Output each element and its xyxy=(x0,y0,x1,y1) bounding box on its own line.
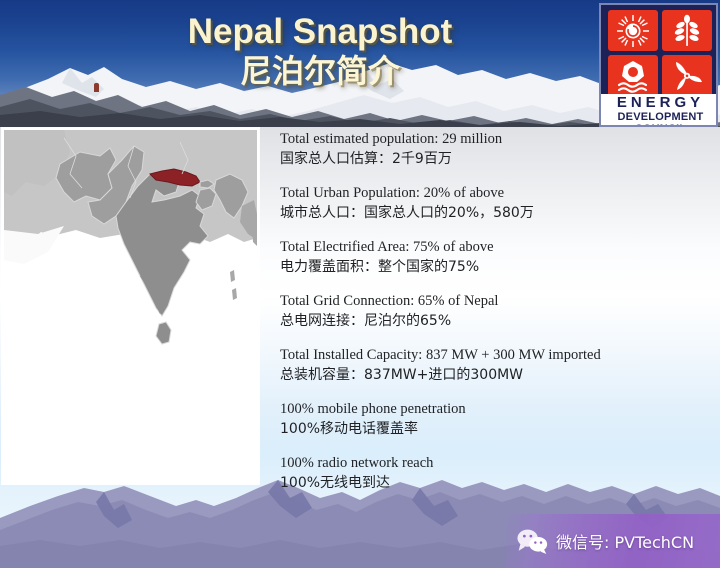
wechat-icon xyxy=(516,528,549,554)
fact-item-population: Total estimated population: 29 million 国… xyxy=(280,130,700,169)
logo-cell-wind xyxy=(662,55,712,96)
logo-icon-grid xyxy=(608,10,712,96)
page-title-chinese: 尼泊尔简介 xyxy=(120,52,520,90)
fact-text-zh: 100%无线电到达 xyxy=(280,473,700,493)
hydro-turbine-icon xyxy=(615,59,651,93)
south-asia-locator-map xyxy=(4,130,257,482)
fact-text-zh: 国家总人口估算：2千9百万 xyxy=(280,149,700,169)
fact-item-electrified-area: Total Electrified Area: 75% of above 电力覆… xyxy=(280,238,700,277)
page-title-english: Nepal Snapshot xyxy=(120,12,520,52)
logo-cell-solar xyxy=(608,10,658,51)
fact-text-en: 100% mobile phone penetration xyxy=(280,400,700,419)
logo-name-line1: ENERGY xyxy=(601,94,718,111)
logo-name-line2: DEVELOPMENT COUNCIL xyxy=(601,111,718,127)
facts-list: Total estimated population: 29 million 国… xyxy=(280,130,700,508)
fact-text-en: Total Installed Capacity: 837 MW + 300 M… xyxy=(280,346,700,365)
fact-text-en: Total Electrified Area: 75% of above xyxy=(280,238,700,257)
sun-icon xyxy=(615,13,651,49)
biomass-plant-icon xyxy=(670,14,704,48)
fact-text-zh: 电力覆盖面积：整个国家的75% xyxy=(280,257,700,277)
wind-turbine-icon xyxy=(670,59,704,93)
logo-cell-hydro xyxy=(608,55,658,96)
fact-text-en: 100% radio network reach xyxy=(280,454,700,473)
fact-text-en: Total estimated population: 29 million xyxy=(280,130,700,149)
south-asia-map-panel xyxy=(2,128,259,484)
fact-item-grid-connection: Total Grid Connection: 65% of Nepal 总电网连… xyxy=(280,292,700,331)
slide-title-block: Nepal Snapshot 尼泊尔简介 xyxy=(120,12,520,90)
fact-text-zh: 总装机容量：837MW+进口的300MW xyxy=(280,365,700,385)
watermark-text: 微信号: PVTechCN xyxy=(556,529,694,553)
logo-wordmark: ENERGY DEVELOPMENT COUNCIL xyxy=(601,94,718,125)
fact-text-zh: 城市总人口：国家总人口的20%，580万 xyxy=(280,203,700,223)
fact-text-en: Total Urban Population: 20% of above xyxy=(280,184,700,203)
fact-text-zh: 100%移动电话覆盖率 xyxy=(280,419,700,439)
fact-text-zh: 总电网连接：尼泊尔的65% xyxy=(280,311,700,331)
fact-item-radio-reach: 100% radio network reach 100%无线电到达 xyxy=(280,454,700,493)
fact-item-urban-population: Total Urban Population: 20% of above 城市总… xyxy=(280,184,700,223)
climber-figure xyxy=(94,83,99,92)
slide-canvas: Nepal Snapshot 尼泊尔简介 xyxy=(0,0,720,568)
fact-item-mobile-penetration: 100% mobile phone penetration 100%移动电话覆盖… xyxy=(280,400,700,439)
fact-item-installed-capacity: Total Installed Capacity: 837 MW + 300 M… xyxy=(280,346,700,385)
energy-development-council-logo: ENERGY DEVELOPMENT COUNCIL xyxy=(599,3,718,127)
fact-text-en: Total Grid Connection: 65% of Nepal xyxy=(280,292,700,311)
wechat-watermark: 微信号: PVTechCN xyxy=(503,514,720,568)
logo-cell-biomass xyxy=(662,10,712,51)
